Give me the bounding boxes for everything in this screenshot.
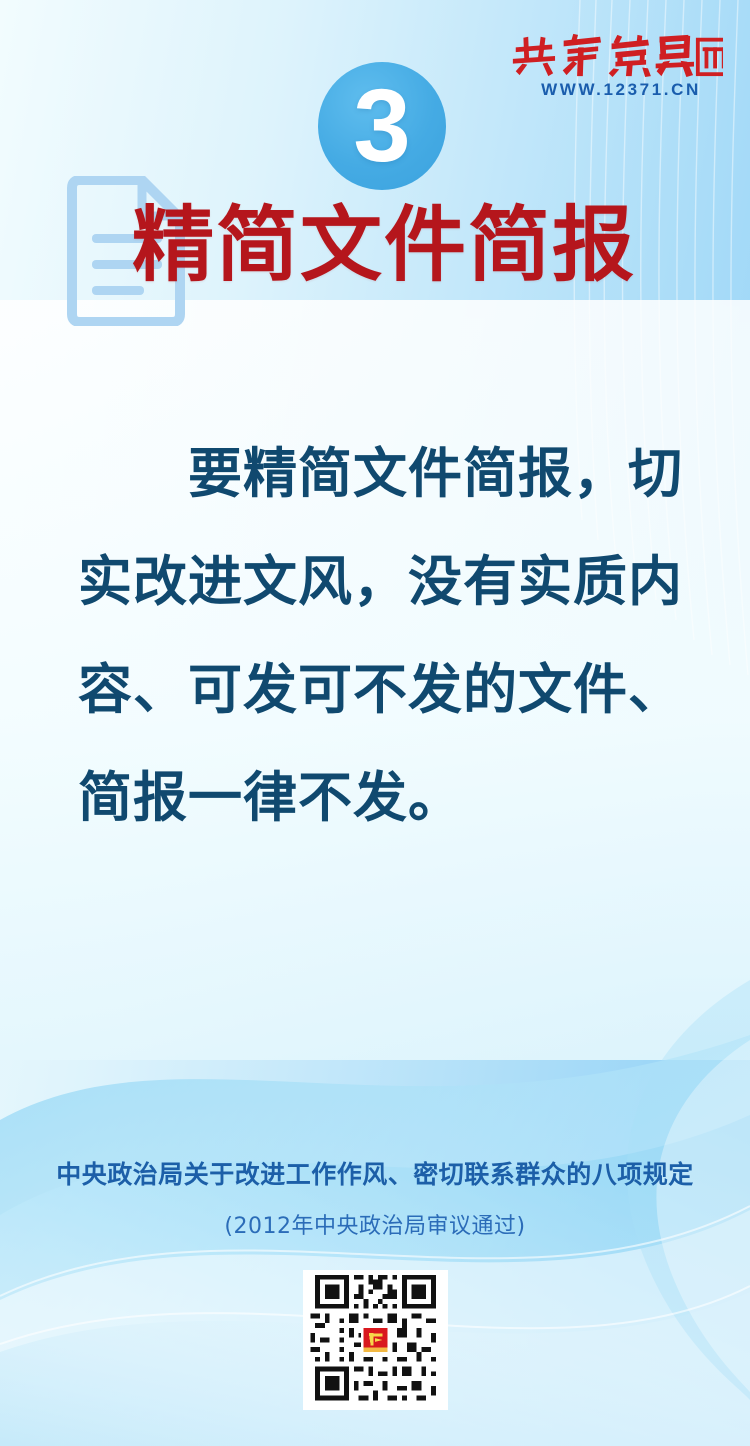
- qr-code[interactable]: [303, 1270, 448, 1410]
- site-logo[interactable]: WWW.12371.CN: [510, 32, 732, 100]
- qr-code-svg: [303, 1270, 448, 1410]
- footer-regulation-heading: 中央政治局关于改进工作作风、密切联系群众的八项规定: [0, 1155, 750, 1191]
- brand-calligraphy-icon: [510, 32, 723, 78]
- body-line: 容、可发可不发的文件、: [78, 636, 678, 744]
- site-url-text: WWW.12371.CN: [510, 80, 732, 100]
- step-number-badge: 3: [318, 62, 446, 190]
- body-line: 实改进文风，没有实质内: [78, 528, 678, 636]
- body-copy: 要精简文件简报，切 实改进文风，没有实质内 容、可发可不发的文件、 简报一律不发…: [78, 420, 678, 852]
- body-line: 简报一律不发。: [78, 744, 678, 852]
- body-line: 要精简文件简报，切: [78, 420, 678, 528]
- poster-canvas: WWW.12371.CN 3 精简文件简报 要精简文件简报，切 实改进文风，没有…: [0, 0, 750, 1446]
- footer-regulation-subtitle: (2012年中央政治局审议通过): [0, 1208, 750, 1240]
- page-title: 精简文件简报: [0, 198, 750, 294]
